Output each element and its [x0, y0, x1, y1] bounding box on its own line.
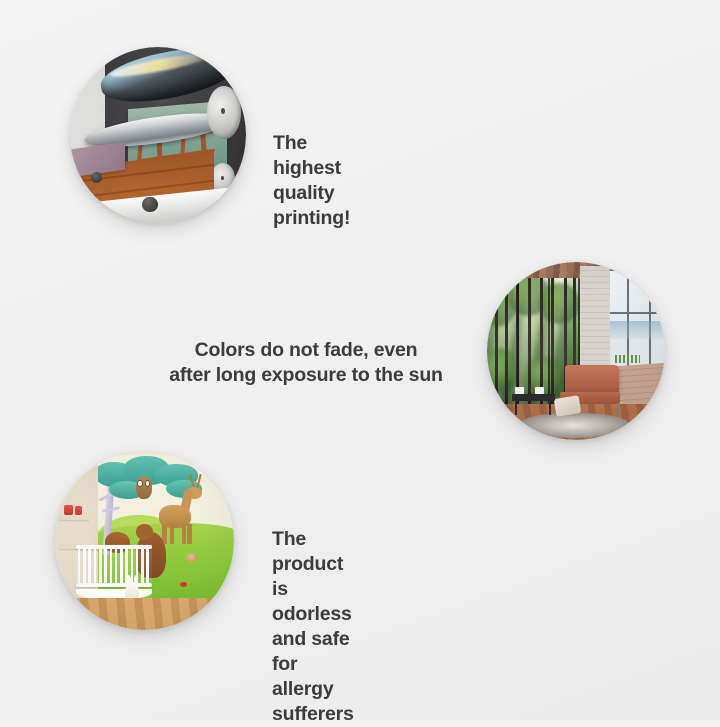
loft-forest-mural-photo	[487, 262, 665, 440]
feature-odorless-caption: The product is odorless and safe for all…	[272, 527, 354, 727]
loft-interior-illustration	[487, 262, 665, 440]
nursery-animal-mural-photo	[55, 451, 234, 630]
printing-press-photo	[70, 47, 246, 223]
feature-printing-caption: The highest quality printing!	[273, 131, 350, 231]
nursery-room-illustration	[55, 451, 234, 630]
promo-canvas: The highest quality printing!	[0, 0, 720, 720]
feature-fade-caption: Colors do not fade, even after long expo…	[151, 338, 461, 388]
printing-press-illustration	[70, 47, 246, 223]
